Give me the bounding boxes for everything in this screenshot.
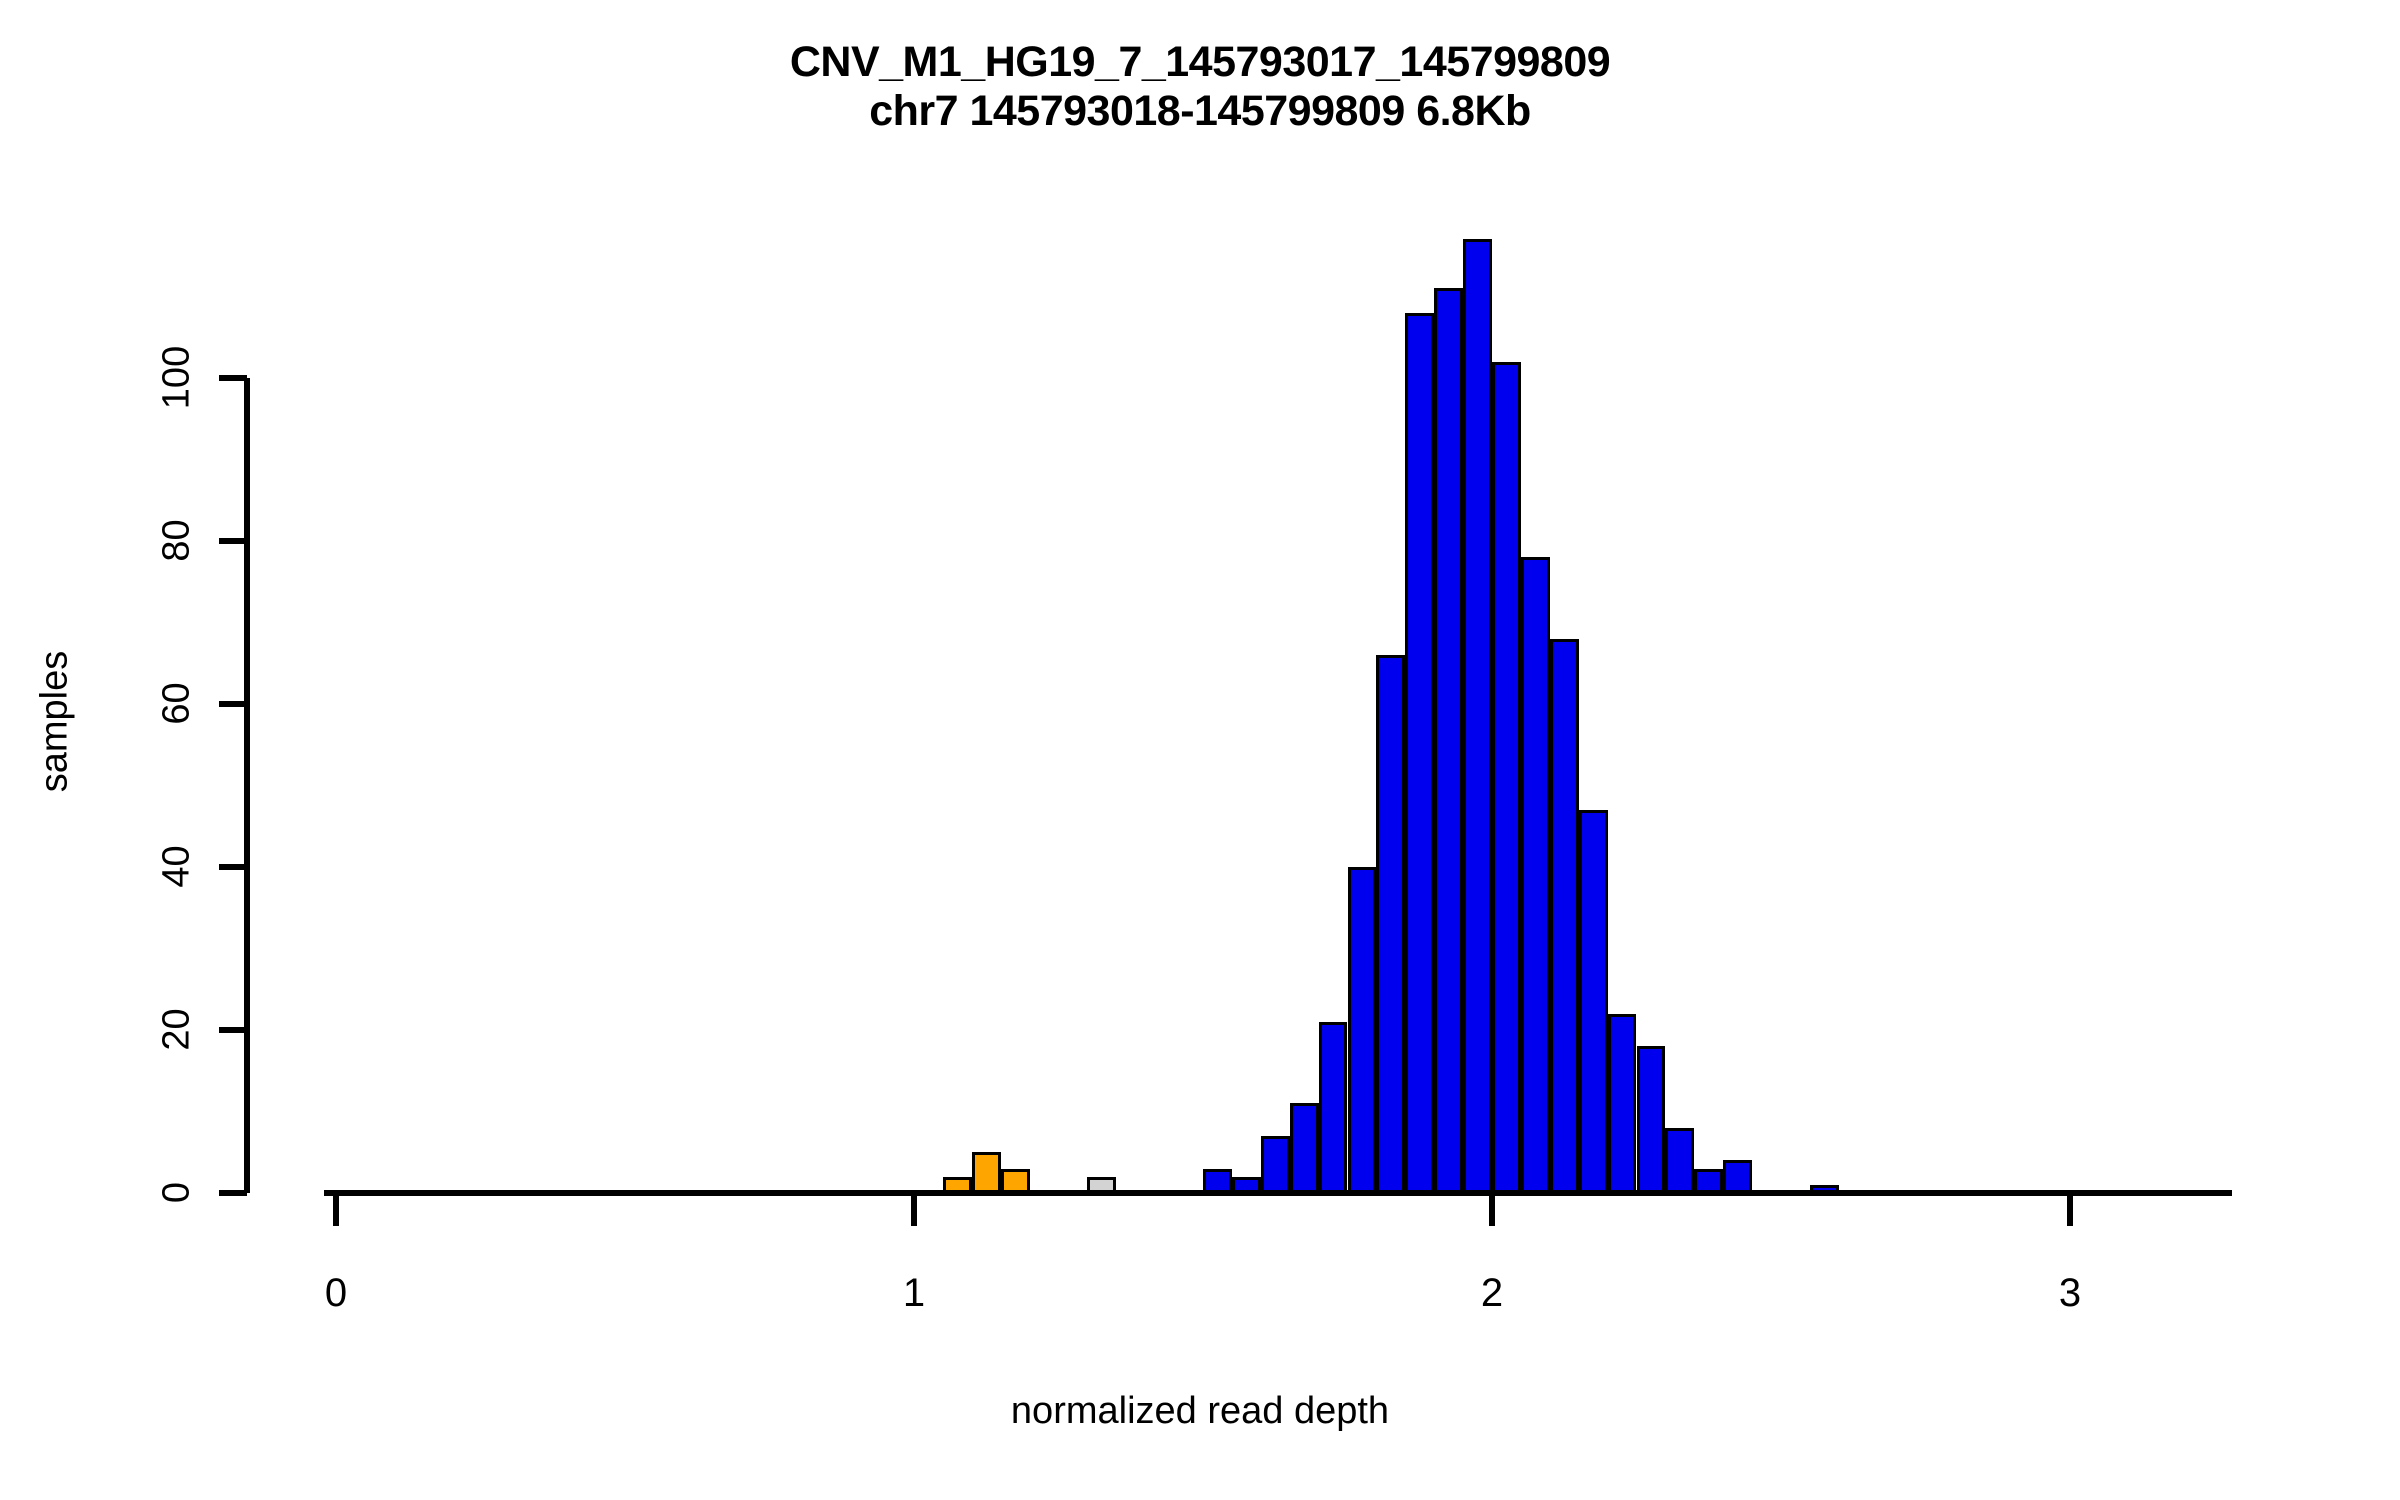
y-axis-tick (219, 375, 247, 381)
histogram-bar (1434, 288, 1463, 1193)
y-axis-tick (219, 864, 247, 870)
histogram-bar (1492, 362, 1521, 1193)
histogram-bar (1463, 239, 1492, 1193)
histogram-bar (1319, 1022, 1348, 1193)
histogram-bar (1290, 1103, 1319, 1193)
x-axis-title: normalized read depth (0, 1390, 2400, 1433)
y-axis-line (244, 378, 250, 1193)
x-axis-line (324, 1190, 2231, 1196)
histogram-plot: CNV_M1_HG19_7_145793017_145799809 chr7 1… (0, 0, 2400, 1500)
x-axis-tick (911, 1193, 917, 1226)
x-axis-tick-label: 3 (2010, 1271, 2130, 1316)
x-axis-tick-label: 0 (276, 1271, 396, 1316)
y-axis-title: samples (34, 602, 77, 842)
x-axis-tick (333, 1193, 339, 1226)
x-axis-tick (1489, 1193, 1495, 1226)
histogram-bar (1405, 313, 1434, 1193)
y-axis-tick (219, 701, 247, 707)
y-axis-tick-label: 0 (156, 1153, 199, 1233)
y-axis-tick (219, 1027, 247, 1033)
histogram-bar (1665, 1128, 1694, 1193)
histogram-bar (972, 1152, 1001, 1193)
plot-title-line-1: CNV_M1_HG19_7_145793017_145799809 (0, 38, 2400, 87)
plot-title-line-2: chr7 145793018-145799809 6.8Kb (0, 87, 2400, 136)
y-axis-tick-label: 40 (156, 827, 199, 907)
x-axis-tick-label: 1 (854, 1271, 974, 1316)
x-axis-tick-label: 2 (1432, 1271, 1552, 1316)
y-axis-tick-label: 60 (156, 664, 199, 744)
histogram-bar (1376, 655, 1405, 1193)
histogram-bar (1723, 1160, 1752, 1193)
histogram-bar (1261, 1136, 1290, 1193)
y-axis-tick (219, 538, 247, 544)
y-axis-tick-label: 20 (156, 990, 199, 1070)
histogram-bar (1521, 557, 1550, 1193)
y-axis-tick-label: 80 (156, 501, 199, 581)
y-axis-tick (219, 1190, 247, 1196)
histogram-bar (1608, 1014, 1637, 1193)
x-axis-tick (2067, 1193, 2073, 1226)
histogram-bar (1550, 639, 1579, 1193)
plot-title: CNV_M1_HG19_7_145793017_145799809 chr7 1… (0, 38, 2400, 137)
histogram-bar (1637, 1046, 1666, 1193)
histogram-bar (1348, 867, 1377, 1193)
y-axis-tick-label: 100 (156, 338, 199, 418)
histogram-bar (1579, 810, 1608, 1193)
